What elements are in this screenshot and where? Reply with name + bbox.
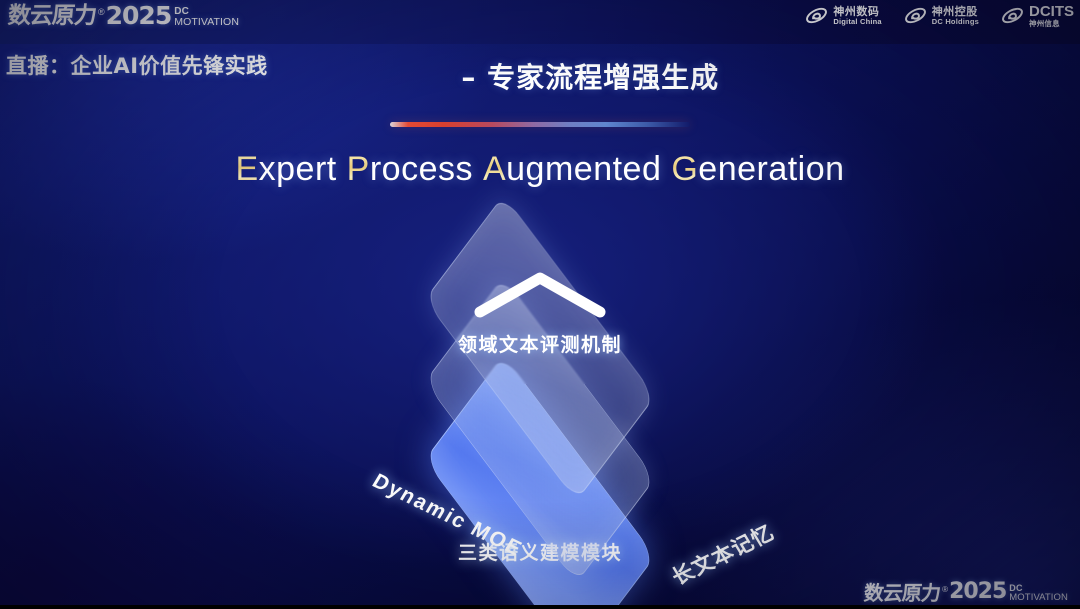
subtitle-rest-process: rocess xyxy=(370,150,473,188)
partner-name-en: 神州信息 xyxy=(1029,20,1074,28)
subtitle-cap-e: E xyxy=(235,150,258,188)
brand-dc-motivation: DC MOTIVATION xyxy=(174,7,239,28)
footer-brand-motivation-label: MOTIVATION xyxy=(1009,593,1068,603)
title-chinese: 专家流程增强生成 xyxy=(487,61,719,94)
title-acronym: EPAG xyxy=(361,61,451,94)
partner-name-en: Digital China xyxy=(833,18,881,26)
footer-brand-dc-motivation: DC MOTIVATION xyxy=(1009,584,1068,603)
brand-name-cn: 数云原力 xyxy=(7,5,97,28)
brand-logo-bottom: 数云原力 ® 2025 DC MOTIVATION xyxy=(864,581,1068,603)
page-subtitle: Expert Process Augmented Generation xyxy=(0,150,1080,189)
partner-name-cn: 神州数码 xyxy=(833,6,881,18)
diagram-layer-top[interactable]: 领域文本评测机制 xyxy=(300,228,780,478)
subtitle-rest-generation: eneration xyxy=(698,150,844,188)
partner-logo-text: DCITS 神州信息 xyxy=(1029,4,1074,28)
brand-registered-mark: ® xyxy=(98,8,105,17)
subtitle-cap-g: G xyxy=(671,150,698,188)
brand-year: 2025 xyxy=(106,3,172,28)
chevron-up-icon xyxy=(472,270,608,318)
swirl-galaxy-icon xyxy=(904,4,927,27)
partner-logo-dc-holdings: 神州控股 DC Holdings xyxy=(904,4,979,27)
diagram-layer-top-label: 领域文本评测机制 xyxy=(300,330,780,357)
subtitle-rest-augmented: ugmented xyxy=(506,150,661,188)
swirl-galaxy-icon xyxy=(805,4,828,27)
subtitle-space-2 xyxy=(473,150,483,188)
brand-motivation-label: MOTIVATION xyxy=(174,17,239,28)
subtitle-space-1 xyxy=(337,150,347,188)
page-title: EPAG – 专家流程增强生成 xyxy=(0,56,1080,96)
partner-name-en: DC Holdings xyxy=(932,18,979,26)
layered-architecture-diagram: 三类语义建模模块 Dynamic MOE 长文本记忆 领域文本评测机制 xyxy=(300,228,780,573)
partner-logo-text: 神州数码 Digital China xyxy=(833,6,881,25)
slide-canvas: 数云原力 ® 2025 DC MOTIVATION 直播：企业AI价值先锋实践 … xyxy=(0,0,1080,609)
brand-dc-label: DC xyxy=(174,7,239,17)
swirl-galaxy-icon xyxy=(1001,4,1024,27)
partner-name-cn: DCITS xyxy=(1029,4,1074,20)
partner-logo-group: 神州数码 Digital China 神州控股 DC Holdings DCIT… xyxy=(805,4,1074,28)
partner-name-cn: 神州控股 xyxy=(932,6,979,18)
title-dash: – xyxy=(451,61,488,94)
subtitle-rest-expert: xpert xyxy=(259,150,337,188)
subtitle-cap-a: A xyxy=(483,150,506,188)
bottom-edge-bar xyxy=(0,605,1080,609)
footer-brand-registered-mark: ® xyxy=(942,586,948,594)
footer-brand-year: 2025 xyxy=(949,581,1006,603)
partner-logo-digital-china: 神州数码 Digital China xyxy=(805,4,881,27)
subtitle-space-3 xyxy=(661,150,671,188)
footer-brand-name-cn: 数云原力 xyxy=(863,583,941,603)
subtitle-cap-p: P xyxy=(347,150,370,188)
partner-logo-dcits: DCITS 神州信息 xyxy=(1001,4,1074,28)
partner-logo-text: 神州控股 DC Holdings xyxy=(932,6,979,25)
brand-logo-top: 数云原力 ® 2025 DC MOTIVATION xyxy=(8,3,239,28)
title-divider xyxy=(390,122,690,127)
